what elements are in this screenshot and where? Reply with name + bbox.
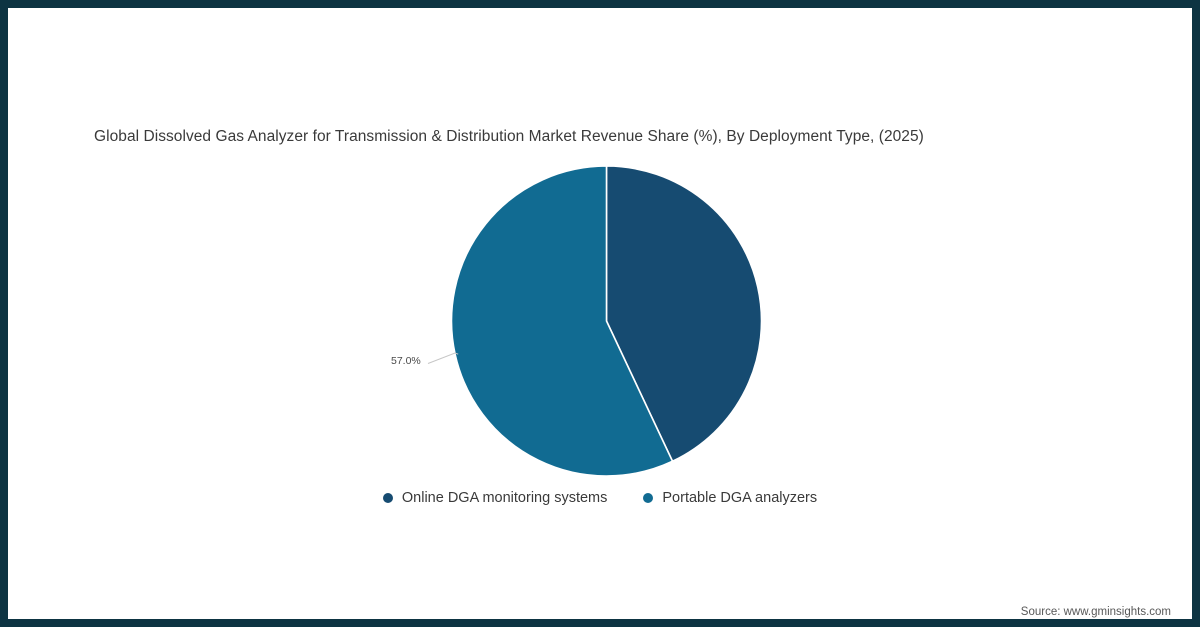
legend-label-portable-dga-analyzers: Portable DGA analyzers <box>662 490 817 506</box>
pie-slice-value-portable-dga-analyzers: 57.0% <box>391 355 421 367</box>
legend-swatch-icon-online-dga-monitoring-systems <box>383 493 393 503</box>
legend-item-portable-dga-analyzers[interactable]: Portable DGA analyzers <box>643 490 817 506</box>
chart-legend: Online DGA monitoring systems Portable D… <box>8 490 1192 506</box>
chart-canvas: Global Dissolved Gas Analyzer for Transm… <box>8 8 1192 619</box>
pie-chart: 57.0% <box>8 8 1192 619</box>
legend-swatch-icon-portable-dga-analyzers <box>643 493 653 503</box>
chart-frame: Global Dissolved Gas Analyzer for Transm… <box>0 0 1200 627</box>
legend-label-online-dga-monitoring-systems: Online DGA monitoring systems <box>402 490 608 506</box>
source-attribution: Source: www.gminsights.com <box>1021 606 1171 618</box>
pie-slices <box>452 166 762 476</box>
pie-leader-lines <box>428 353 458 364</box>
pie-chart-svg <box>8 8 1192 619</box>
legend-item-online-dga-monitoring-systems[interactable]: Online DGA monitoring systems <box>383 490 608 506</box>
leader-line-portable-dga-analyzers <box>428 353 458 364</box>
